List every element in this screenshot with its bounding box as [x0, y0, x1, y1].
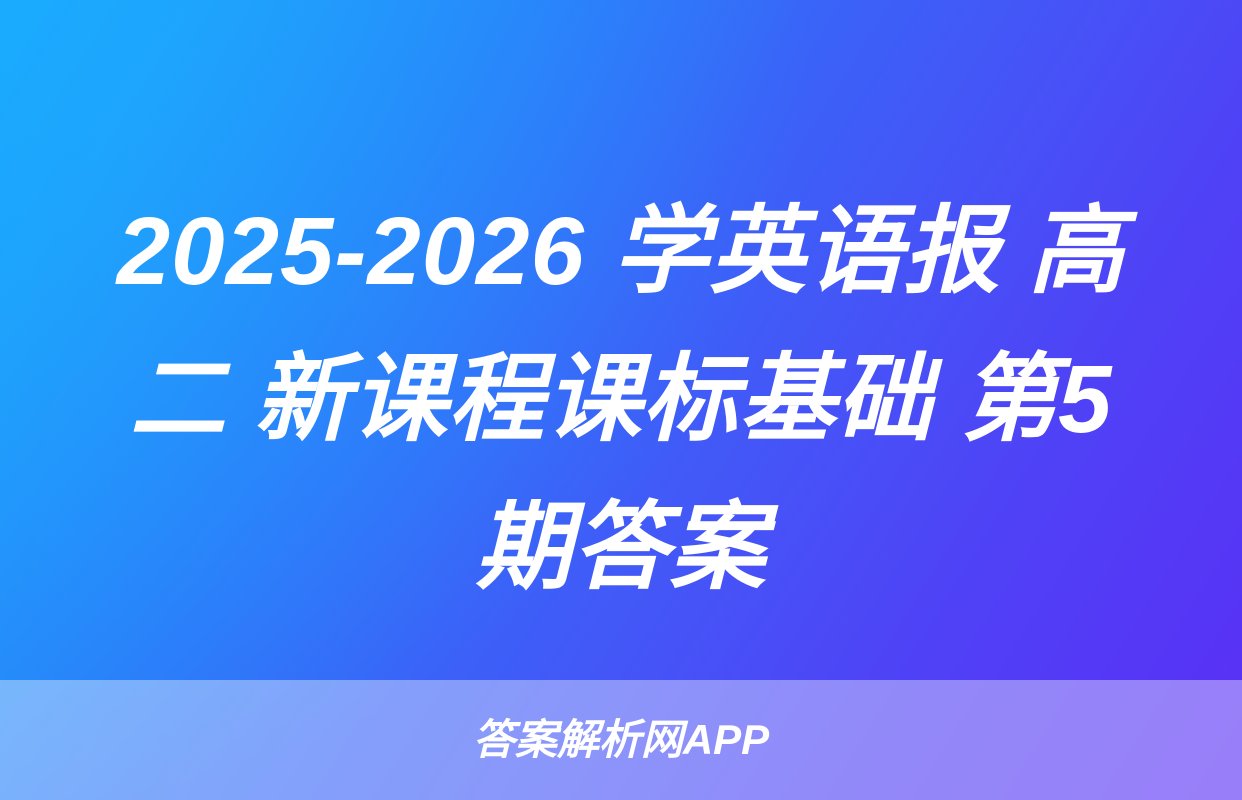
title-line-1: 2025-2026 学英语报 高: [62, 178, 1180, 326]
poster-canvas: 2025-2026 学英语报 高 二 新课程课标基础 第5 期答案 答案解析网A…: [0, 0, 1242, 800]
footer-brand-band: 答案解析网APP: [0, 680, 1242, 800]
brand-label: 答案解析网APP: [473, 716, 769, 764]
title-line-3: 期答案: [62, 474, 1180, 622]
title-line-2: 二 新课程课标基础 第5: [62, 326, 1180, 474]
page-title: 2025-2026 学英语报 高 二 新课程课标基础 第5 期答案: [0, 178, 1242, 622]
